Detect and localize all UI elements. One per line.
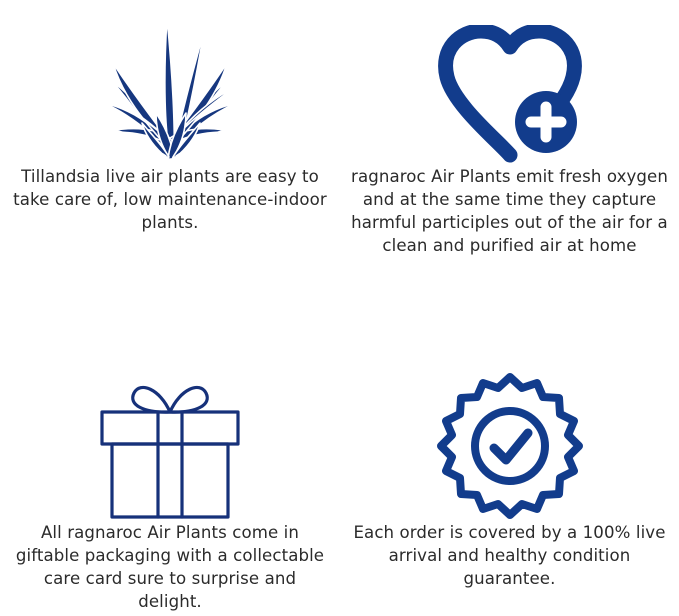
feature-card-gift: All ragnaroc Air Plants come in giftable…	[0, 308, 340, 616]
feature-card-guarantee: Each order is covered by a 100% live arr…	[340, 308, 679, 616]
heart-plus-icon-wrap	[434, 0, 586, 165]
gift-box-icon-wrap	[90, 308, 250, 521]
heart-plus-icon	[434, 25, 586, 165]
feature-text-air-plant: Tillandsia live air plants are easy to t…	[5, 165, 335, 234]
verified-badge-icon-wrap	[437, 308, 583, 521]
verified-badge-icon	[437, 371, 583, 521]
air-plant-icon	[94, 13, 246, 165]
feature-card-oxygen: ragnaroc Air Plants emit fresh oxygen an…	[340, 0, 679, 308]
feature-text-oxygen: ragnaroc Air Plants emit fresh oxygen an…	[351, 165, 669, 257]
feature-text-guarantee: Each order is covered by a 100% live arr…	[350, 521, 670, 590]
features-grid: Tillandsia live air plants are easy to t…	[0, 0, 679, 616]
gift-box-icon	[90, 371, 250, 521]
feature-card-air-plant: Tillandsia live air plants are easy to t…	[0, 0, 340, 308]
feature-text-gift: All ragnaroc Air Plants come in giftable…	[9, 521, 331, 613]
air-plant-icon-wrap	[94, 0, 246, 165]
